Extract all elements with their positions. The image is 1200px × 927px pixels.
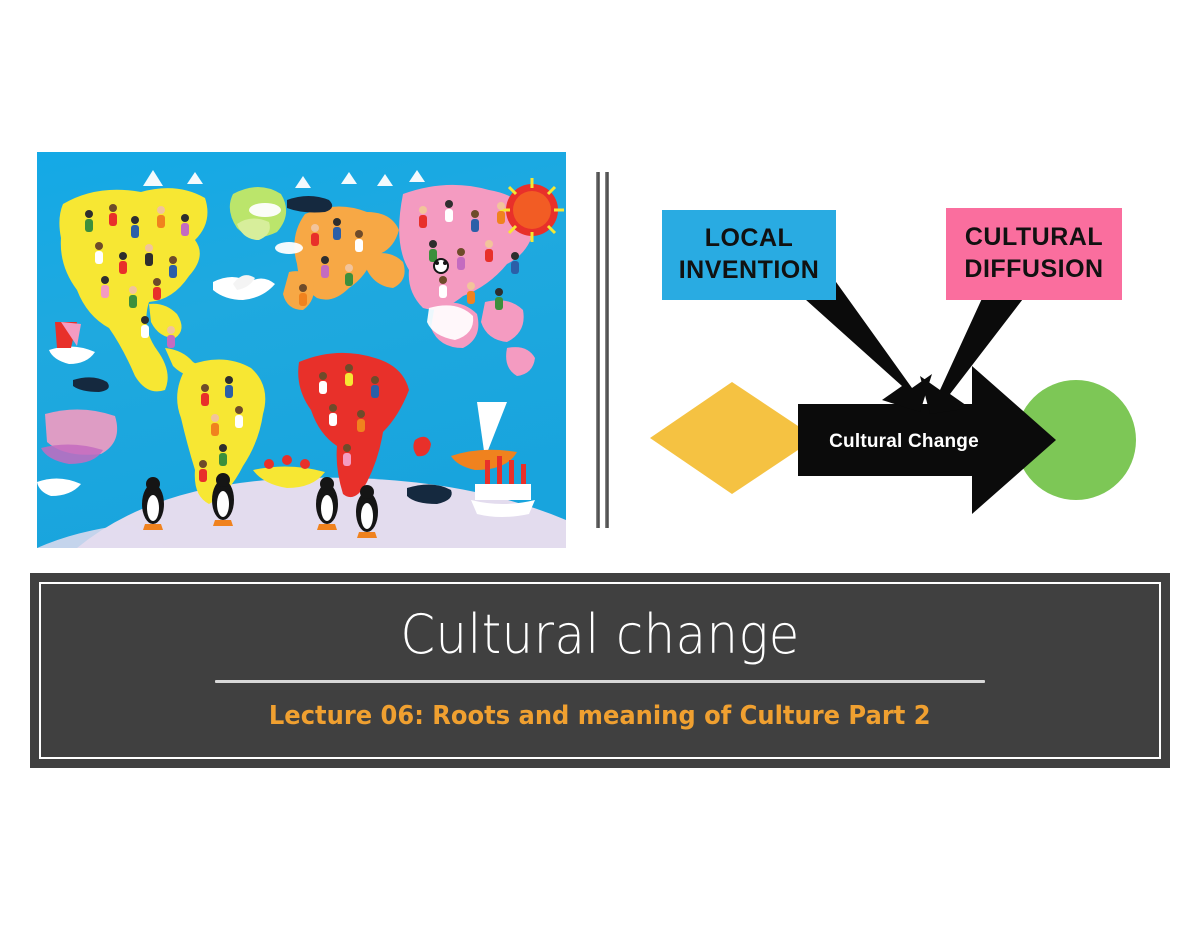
divider-bar-right [605, 172, 609, 528]
cultural-change-diagram[interactable]: Cultural Change LOCAL INVENTION CULTURAL… [620, 168, 1160, 538]
world-map-artwork [37, 152, 566, 548]
page-subtitle: Lecture 06: Roots and meaning of Culture… [269, 701, 931, 731]
title-divider-rule [215, 680, 985, 683]
title-block-inner: Cultural change Lecture 06: Roots and me… [39, 582, 1161, 759]
cultural-diffusion-line2: DIFFUSION [964, 255, 1103, 283]
local-invention-line2: INVENTION [679, 256, 820, 284]
page-title: Cultural change [400, 606, 799, 663]
yellow-diamond [650, 382, 816, 494]
divider-bar-left [596, 172, 600, 528]
cultural-diffusion-box[interactable] [946, 208, 1122, 300]
slide-canvas: Cultural Change LOCAL INVENTION CULTURAL… [0, 0, 1200, 927]
vertical-divider [596, 172, 610, 528]
title-block: Cultural change Lecture 06: Roots and me… [30, 573, 1170, 768]
cultural-change-arrow-label: Cultural Change [829, 431, 979, 452]
cultural-diffusion-line1: CULTURAL [965, 223, 1103, 251]
cultural-change-diagram-graphic: Cultural Change LOCAL INVENTION CULTURAL… [620, 168, 1160, 538]
world-map-image[interactable] [37, 152, 566, 548]
local-invention-line1: LOCAL [705, 224, 794, 252]
